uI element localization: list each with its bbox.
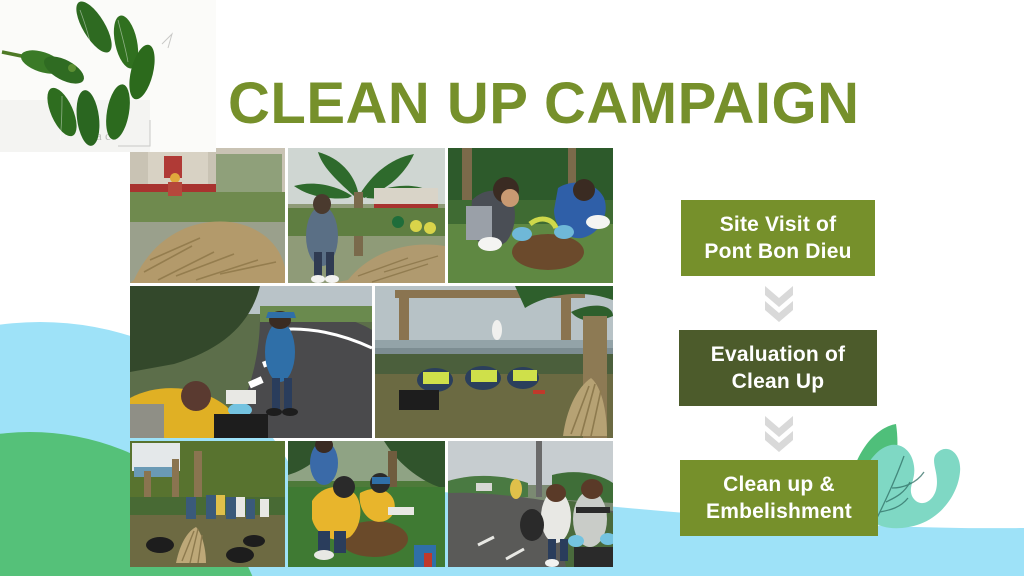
collage-photo-8 — [448, 441, 613, 567]
collage-photo-6 — [130, 441, 285, 567]
double-chevron-down-icon-1 — [762, 282, 796, 322]
collage-photo-5 — [375, 286, 613, 438]
flow-step-evaluation[interactable]: Evaluation of Clean Up — [679, 330, 877, 406]
collage-photo-3 — [448, 148, 613, 283]
flow-step-1-line2: Pont Bon Dieu — [704, 240, 851, 263]
flow-step-3-line2: Embelishment — [706, 500, 852, 523]
photo-collage — [130, 148, 613, 568]
flow-step-site-visit[interactable]: Site Visit of Pont Bon Dieu — [681, 200, 875, 276]
collage-photo-2 — [288, 148, 445, 283]
leaf-photo-card: a c — [0, 0, 216, 152]
flow-step-2-line1: Evaluation of — [711, 343, 845, 366]
collage-photo-4 — [130, 286, 372, 438]
collage-photo-7 — [288, 441, 445, 567]
flow-step-clean-up-embelishment[interactable]: Clean up & Embelishment — [680, 460, 878, 536]
slide-canvas: a c CLEAN UP CAMPAIGN — [0, 0, 1024, 576]
flow-step-1-label: Site Visit of Pont Bon Dieu — [704, 211, 851, 265]
flow-step-1-line1: Site Visit of — [720, 213, 837, 236]
collage-photo-1 — [130, 148, 285, 283]
page-title: CLEAN UP CAMPAIGN — [228, 72, 928, 138]
flow-step-2-line2: Clean Up — [732, 370, 825, 393]
flow-step-3-line1: Clean up & — [723, 473, 835, 496]
double-chevron-down-icon-2 — [762, 412, 796, 452]
flow-step-3-label: Clean up & Embelishment — [706, 471, 852, 525]
flow-step-2-label: Evaluation of Clean Up — [711, 341, 845, 395]
